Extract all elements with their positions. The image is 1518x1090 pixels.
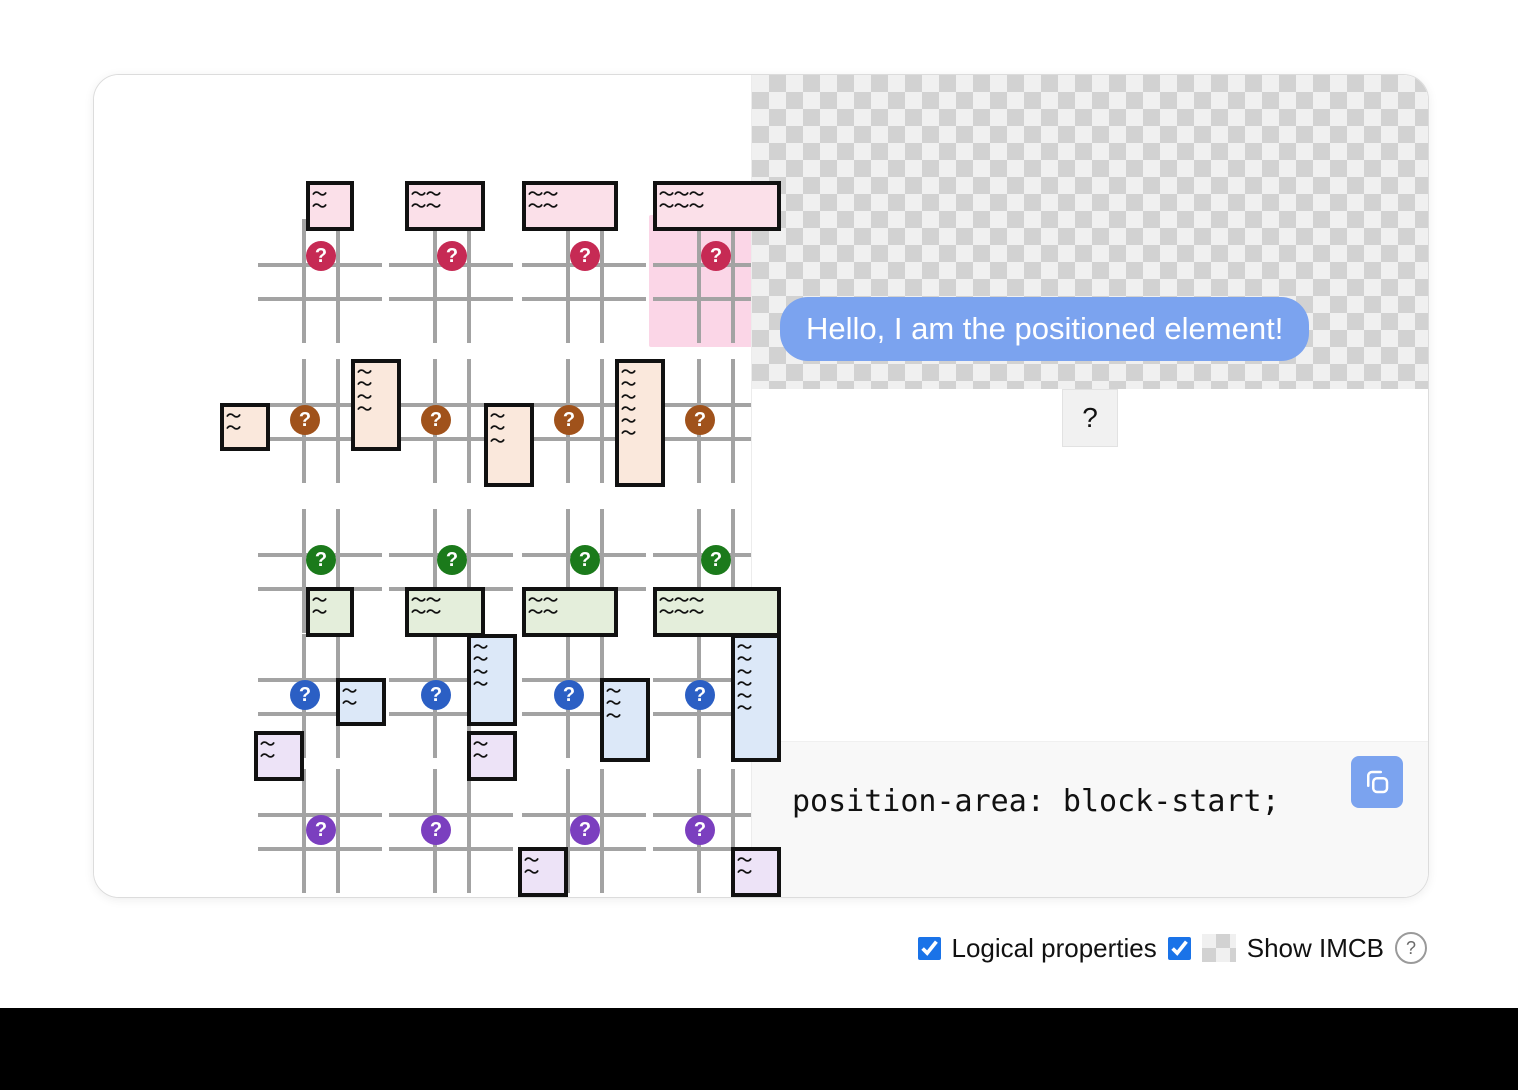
placeholder-text-squiggles: 〜 〜 — [342, 685, 357, 710]
preview-canvas: Hello, I am the positioned element! ? — [752, 75, 1428, 389]
anchor-marker-icon: ? — [685, 680, 715, 710]
placeholder-text-squiggles: 〜 〜 — [312, 594, 327, 619]
anchor-marker-icon: ? — [306, 545, 336, 575]
containing-block-grid — [401, 781, 501, 881]
positioned-element-box: 〜 〜 〜 〜 〜 〜 — [731, 634, 781, 762]
help-icon[interactable]: ? — [1395, 932, 1427, 964]
positioned-element-box: 〜 〜 — [336, 678, 386, 726]
position-area-option[interactable]: 〜 〜? — [254, 215, 386, 347]
positioned-element-box: 〜 〜 〜 — [600, 678, 650, 762]
anchor-marker-icon: ? — [437, 241, 467, 271]
anchor-marker-icon: ? — [421, 815, 451, 845]
position-area-option-matrix: 〜 〜?〜〜 〜〜?〜〜 〜〜?〜〜〜 〜〜〜?〜 〜?〜 〜 〜 〜?〜 〜 … — [94, 75, 751, 897]
placeholder-text-squiggles: 〜 〜 〜 〜 — [357, 366, 372, 415]
position-area-option[interactable]: 〜 〜 〜 〜 〜 〜? — [649, 630, 781, 762]
placeholder-text-squiggles: 〜〜〜 〜〜〜 — [659, 594, 704, 619]
anchor-marker-icon: ? — [306, 241, 336, 271]
code-output-panel: position-area: block-start; — [752, 741, 1428, 897]
bottom-letterbox-bar — [0, 1008, 1518, 1090]
anchor-marker-icon: ? — [290, 405, 320, 435]
placeholder-text-squiggles: 〜 〜 〜 — [490, 410, 505, 447]
placeholder-text-squiggles: 〜 〜 〜 — [606, 685, 621, 722]
placeholder-text-squiggles: 〜〜 〜〜 — [528, 188, 558, 213]
position-area-option[interactable]: 〜 〜? — [518, 765, 650, 897]
placeholder-text-squiggles: 〜 〜 — [524, 854, 539, 879]
positioned-element-box: 〜〜〜 〜〜〜 — [653, 587, 781, 637]
position-area-option[interactable]: 〜〜 〜〜? — [518, 215, 650, 347]
position-area-option[interactable]: 〜〜 〜〜? — [518, 505, 650, 637]
positioned-element-box: 〜 〜 〜 〜 — [467, 634, 517, 726]
anchor-marker-icon: ? — [570, 241, 600, 271]
imcb-checkerboard-swatch — [1202, 934, 1236, 962]
placeholder-text-squiggles: 〜〜 〜〜 — [528, 594, 558, 619]
anchor-marker-icon: ? — [554, 680, 584, 710]
placeholder-text-squiggles: 〜〜〜 〜〜〜 — [659, 188, 704, 213]
css-declaration-text: position-area: block-start; — [792, 784, 1280, 819]
preview-panel: Hello, I am the positioned element! ? po… — [751, 75, 1428, 897]
anchor-marker-icon: ? — [685, 815, 715, 845]
positioned-element-box: 〜 〜 〜 〜 〜 〜 — [615, 359, 665, 487]
anchor-marker-icon: ? — [554, 405, 584, 435]
positioned-element-box: 〜 〜 — [731, 847, 781, 897]
placeholder-text-squiggles: 〜 〜 〜 〜 〜 〜 — [737, 641, 752, 715]
anchor-marker-icon: ? — [570, 545, 600, 575]
anchor-marker-icon: ? — [290, 680, 320, 710]
placeholder-text-squiggles: 〜 〜 — [473, 738, 488, 763]
anchor-marker-icon: ? — [685, 405, 715, 435]
positioned-element-box: 〜〜 〜〜 — [522, 587, 618, 637]
placeholder-text-squiggles: 〜 〜 — [737, 854, 752, 879]
placeholder-text-squiggles: 〜 〜 — [226, 410, 241, 435]
anchor-marker-icon: ? — [306, 815, 336, 845]
positioned-element-box: 〜 〜 — [518, 847, 568, 897]
anchor-marker-icon: ? — [421, 405, 451, 435]
positioned-element-box: 〜〜 〜〜 — [522, 181, 618, 231]
positioned-element-box: 〜 〜 — [306, 587, 354, 637]
positioned-element-box: 〜〜〜 〜〜〜 — [653, 181, 781, 231]
positioned-element-box: 〜 〜 — [220, 403, 270, 451]
copy-icon — [1362, 767, 1392, 797]
positioned-element-box: 〜〜 〜〜 — [405, 181, 485, 231]
positioned-element-box: 〜 〜 〜 〜 — [351, 359, 401, 451]
copy-code-button[interactable] — [1351, 756, 1403, 808]
position-area-grid-panel: 〜 〜?〜〜 〜〜?〜〜 〜〜?〜〜〜 〜〜〜?〜 〜?〜 〜 〜 〜?〜 〜 … — [94, 75, 751, 897]
position-area-option[interactable]: 〜 〜 〜? — [518, 630, 650, 762]
anchor-marker-icon: ? — [701, 241, 731, 271]
position-area-option[interactable]: 〜 〜? — [254, 765, 386, 897]
options-bar: Logical properties Show IMCB ? — [0, 920, 1427, 976]
show-imcb-checkbox[interactable] — [1168, 937, 1191, 960]
position-area-option[interactable]: 〜〜 〜〜? — [385, 505, 517, 637]
positioned-element-box: 〜 〜 — [254, 731, 304, 781]
anchor-marker-icon: ? — [421, 680, 451, 710]
position-area-option[interactable]: 〜 〜? — [254, 505, 386, 637]
containing-block-grid — [665, 371, 765, 471]
anchor-element-chip[interactable]: ? — [1062, 389, 1118, 447]
position-area-option[interactable]: 〜 〜? — [385, 765, 517, 897]
positioned-element-box: 〜 〜 — [467, 731, 517, 781]
positioned-element-tooltip: Hello, I am the positioned element! — [780, 297, 1309, 361]
placeholder-text-squiggles: 〜 〜 — [260, 738, 275, 763]
placeholder-text-squiggles: 〜 〜 — [312, 188, 327, 213]
positioned-element-box: 〜〜 〜〜 — [405, 587, 485, 637]
placeholder-text-squiggles: 〜〜 〜〜 — [411, 594, 441, 619]
placeholder-text-squiggles: 〜 〜 〜 〜 — [473, 641, 488, 690]
placeholder-text-squiggles: 〜 〜 〜 〜 〜 〜 — [621, 366, 636, 440]
position-area-option[interactable]: 〜〜 〜〜? — [385, 215, 517, 347]
placeholder-text-squiggles: 〜〜 〜〜 — [411, 188, 441, 213]
anchor-marker-icon: ? — [437, 545, 467, 575]
positioned-element-box: 〜 〜 — [306, 181, 354, 231]
logical-properties-checkbox[interactable] — [918, 937, 941, 960]
logical-properties-label: Logical properties — [952, 933, 1157, 964]
anchor-marker-icon: ? — [570, 815, 600, 845]
anchor-marker-icon: ? — [701, 545, 731, 575]
positioned-element-box: 〜 〜 〜 — [484, 403, 534, 487]
position-area-explorer-card: 〜 〜?〜〜 〜〜?〜〜 〜〜?〜〜〜 〜〜〜?〜 〜?〜 〜 〜 〜?〜 〜 … — [93, 74, 1429, 898]
show-imcb-label: Show IMCB — [1247, 933, 1384, 964]
